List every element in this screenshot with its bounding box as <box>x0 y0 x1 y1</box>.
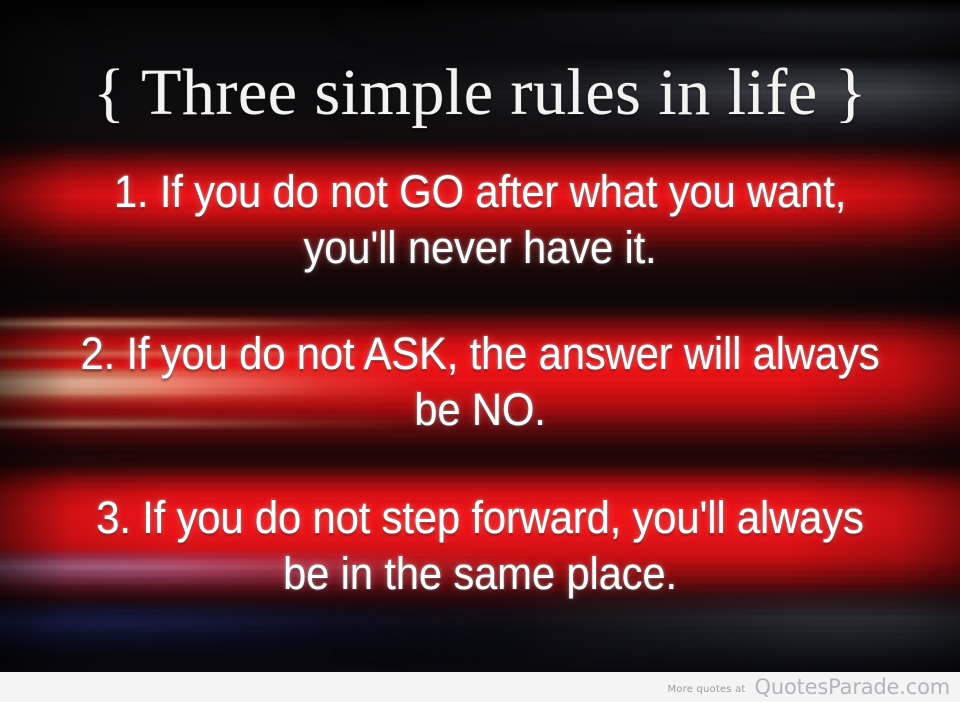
rule-item-3: 3. If you do not step forward, you'll al… <box>34 490 927 602</box>
footer-watermark-bar: More quotes at QuotesParade.com <box>0 672 960 702</box>
rule-item-1: 1. If you do not GO after what you want,… <box>34 164 927 276</box>
rule-item-2: 2. If you do not ASK, the answer will al… <box>34 326 927 438</box>
rules-list: 1. If you do not GO after what you want,… <box>0 158 960 602</box>
poster-title: { Three simple rules in life } <box>0 44 960 142</box>
quote-poster: { Three simple rules in life } 1. If you… <box>0 0 960 702</box>
watermark-prefix-label: More quotes at <box>667 684 745 695</box>
poster-title-text: { Three simple rules in life } <box>93 60 867 126</box>
watermark-brand-link[interactable]: QuotesParade.com <box>755 675 950 699</box>
